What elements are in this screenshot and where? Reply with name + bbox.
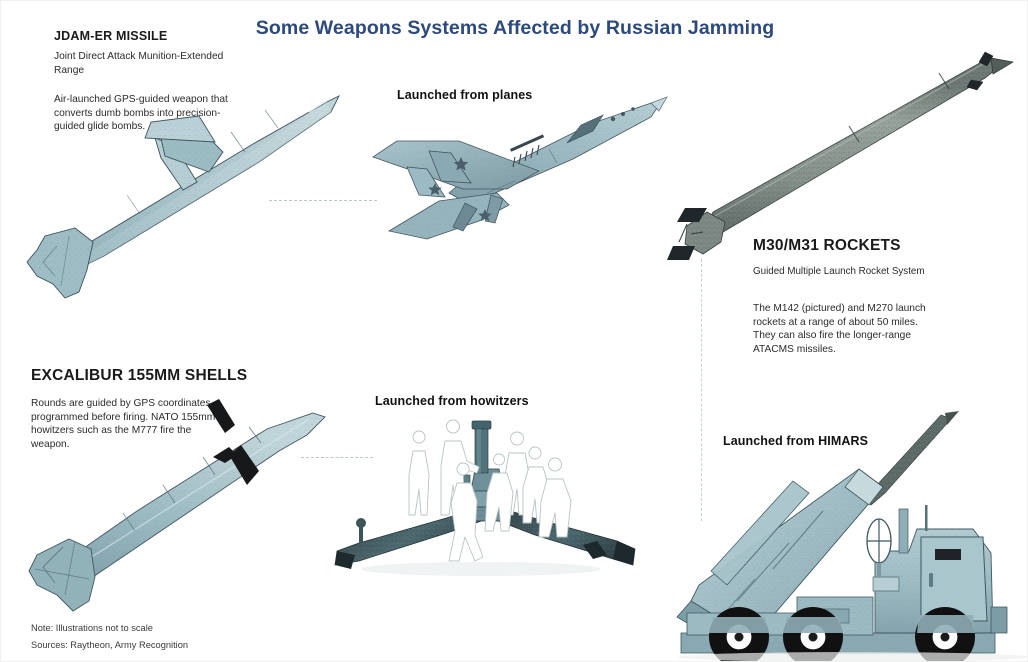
infographic-canvas: Some Weapons Systems Affected by Russian… <box>0 0 1028 662</box>
jdam-er-missile-illustration <box>9 86 339 311</box>
label-launched-from-howitzers: Launched from howitzers <box>375 394 529 408</box>
footer-sources: Sources: Raytheon, Army Recognition <box>31 640 188 650</box>
section-heading-jdam: JDAM-ER MISSILE <box>54 29 167 43</box>
fighter-jet-illustration <box>367 97 667 257</box>
section-subtitle-jdam: Joint Direct Attack Munition-Extended Ra… <box>54 50 234 77</box>
excalibur-shell-illustration <box>29 399 329 614</box>
himars-launcher-vehicle-illustration <box>673 401 1021 659</box>
m777-howitzer-crew-illustration <box>331 419 641 579</box>
section-body-m30: The M142 (pictured) and M270 launch rock… <box>753 302 943 356</box>
section-heading-excalibur: EXCALIBUR 155MM SHELLS <box>31 367 247 385</box>
section-heading-m30: M30/M31 ROCKETS <box>753 237 901 255</box>
footer-note: Note: Illustrations not to scale <box>31 623 153 633</box>
section-subtitle-m30: Guided Multiple Launch Rocket System <box>753 265 993 279</box>
